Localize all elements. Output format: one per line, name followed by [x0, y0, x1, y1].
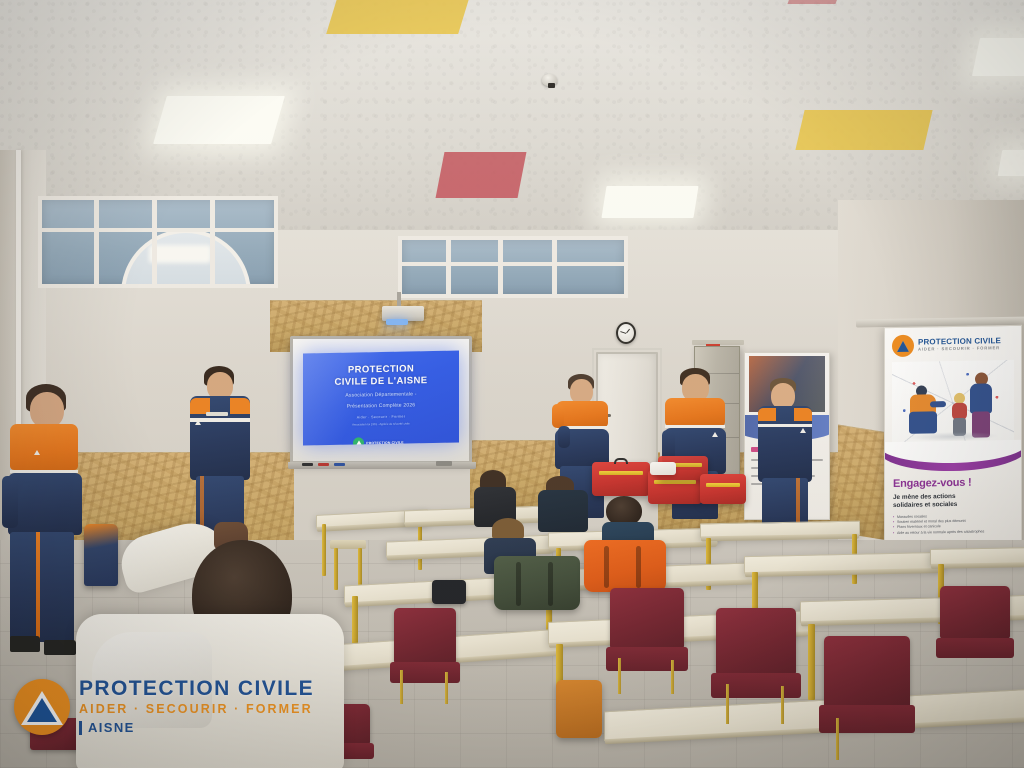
- illus-volunteer-legs: [909, 411, 937, 433]
- instructor-1-leg-stripe: [36, 532, 40, 642]
- emergency-med-bag-4: [700, 474, 746, 504]
- chair-backrest[interactable]: [824, 636, 910, 708]
- protection-civile-badge-icon: [712, 432, 718, 437]
- watermark-title: PROTECTION CIVILE: [79, 678, 314, 701]
- projected-slide: PROTECTION CIVILE DE L'AISNE Association…: [303, 351, 459, 446]
- watermark-tagline: AIDER · SECOURIR · FORMER: [79, 703, 314, 717]
- student-2-top: [538, 490, 588, 532]
- chair-leg: [445, 672, 448, 704]
- clerestory-window-left: [38, 196, 278, 288]
- ceiling-accent-tile-red: [436, 152, 527, 198]
- window-transom: [402, 262, 624, 266]
- slide-footnote: Association loi 1901 - Agréée de sécurit…: [309, 421, 453, 428]
- window-transom: [42, 228, 274, 232]
- instructor-2-name-patch: [206, 412, 228, 416]
- instructor-1-boot: [10, 636, 40, 652]
- projector-lens-icon: [386, 319, 408, 325]
- banner-logo-tagline: AIDER · SECOURIR · FORMER: [918, 346, 1001, 352]
- backpack-strap: [636, 546, 641, 588]
- illus-parent-torso: [970, 383, 992, 413]
- ceiling-light-panel-3: [972, 38, 1024, 76]
- marker-black-icon: [302, 463, 313, 466]
- ceiling-accent-tile-yellow: [326, 0, 470, 34]
- desk-leg: [808, 624, 815, 700]
- rollup-banner-engagez-vous: PROTECTION CIVILE AIDER · SECOURIR · FOR…: [884, 325, 1022, 569]
- clerestory-window-back: [398, 236, 628, 298]
- slide-title-line2: CIVILE DE L'AISNE: [309, 374, 453, 389]
- watermark-logo: PROTECTION CIVILE AIDER · SECOURIR · FOR…: [14, 678, 314, 735]
- banner-subhead-line2: solidaires et sociales: [893, 500, 1014, 510]
- chair-4[interactable]: [824, 636, 910, 760]
- window-mullion: [152, 200, 157, 284]
- banner-bullet-list: Maraudes sociales Soutien matériel et mo…: [893, 513, 1014, 537]
- desk-row-b-3: [700, 521, 860, 539]
- classroom-photo-scene: PROTECTION CIVILE DE L'AISNE Association…: [0, 0, 1024, 768]
- banner-illustration: [892, 360, 1014, 446]
- slide-motto: Aider · Secourir · Former: [309, 414, 453, 421]
- chair-3[interactable]: [716, 608, 796, 724]
- chair-seat[interactable]: [936, 638, 1014, 658]
- backpack-orange: [584, 540, 666, 592]
- protection-civile-logo-icon: [14, 679, 70, 735]
- instructor-5-shoulder-orange-left: [758, 408, 776, 421]
- chair-6-partial[interactable]: [940, 586, 1010, 678]
- banner-text-block: Engagez-vous ! Je mène des actions solid…: [893, 476, 1014, 536]
- backpack-strap: [516, 562, 521, 605]
- window-mullion: [552, 240, 557, 294]
- instructor-5: [756, 378, 818, 538]
- banner-logo-header: PROTECTION CIVILE AIDER · SECOURIR · FOR…: [885, 326, 1021, 357]
- reflective-strip: [654, 480, 695, 484]
- chair-leg: [726, 684, 729, 724]
- window-light-glare: [149, 245, 211, 263]
- chair-seat[interactable]: [711, 673, 801, 699]
- smoke-detector-icon: [542, 74, 557, 86]
- reflective-strip: [706, 483, 741, 487]
- window-mullion: [94, 200, 99, 284]
- chair-backrest[interactable]: [940, 586, 1010, 639]
- marker-blue-icon: [334, 463, 345, 466]
- protection-civile-logo-icon: [892, 335, 914, 357]
- student-3-hair: [492, 518, 524, 540]
- instructor-3-arm-left: [552, 404, 564, 428]
- ceiling-projector: [382, 306, 424, 321]
- illus-volunteer-arm: [930, 401, 946, 407]
- protection-civile-badge-icon: [800, 428, 806, 433]
- chair-leg: [671, 660, 674, 694]
- instructor-5-reflective-stripe: [758, 424, 812, 427]
- protection-civile-badge-icon: [195, 420, 201, 425]
- protection-civile-triangle-icon: [353, 437, 364, 445]
- slide-subtitle-line1: Association Départementale -: [309, 390, 453, 400]
- instructor-5-jacket: [758, 406, 812, 482]
- window-mullion: [210, 200, 215, 284]
- ceiling-accent-tile-yellow-right: [795, 110, 932, 150]
- instructor-1-polo-orange: [10, 424, 78, 470]
- protection-civile-badge-icon: [34, 450, 40, 455]
- slide-subtitle-line2: Présentation Complète 2026: [309, 402, 453, 412]
- bag-handle-icon: [614, 458, 628, 464]
- backpack-green: [494, 556, 580, 610]
- chair-seat[interactable]: [819, 705, 915, 732]
- eraser-icon: [436, 461, 452, 466]
- window-mullion: [446, 240, 451, 294]
- chair-leg: [836, 718, 839, 760]
- ceiling-light-panel-1: [153, 96, 285, 144]
- banner-headline: Engagez-vous !: [893, 476, 1014, 490]
- backpack-strap: [604, 546, 609, 588]
- marker-red-icon: [318, 463, 329, 466]
- instructor-1-arm: [2, 476, 18, 528]
- backpack-strap: [548, 562, 553, 605]
- chair-1[interactable]: [394, 608, 456, 704]
- instructor-1-head: [30, 392, 64, 428]
- desk-row-c-3: [744, 552, 944, 574]
- chair-backrest[interactable]: [716, 608, 796, 675]
- instructor-5-shoulder-orange-right: [794, 408, 812, 421]
- wall-clock: [616, 322, 636, 344]
- instructor-4-polo-orange: [665, 398, 725, 426]
- emergency-med-bag-1: [592, 462, 650, 496]
- desk-row-c-4: [930, 547, 1024, 566]
- ceiling-light-panel-4: [998, 150, 1024, 176]
- white-folded-cloth: [650, 462, 676, 475]
- instructor-3-forearm: [558, 426, 570, 448]
- chair-2[interactable]: [610, 588, 684, 694]
- bag-tan-under-desk: [556, 680, 602, 738]
- logo-triangle-blue: [27, 698, 57, 722]
- ceiling-light-panel-2: [601, 186, 698, 218]
- window-mullion: [498, 240, 503, 294]
- student-2: [538, 476, 590, 534]
- chair-backrest[interactable]: [394, 608, 456, 664]
- ceiling-accent-tile-red-top: [787, 0, 840, 4]
- watermark-region: AISNE: [79, 721, 314, 735]
- banner-bullet: Aide au retour à la vie normale après de…: [893, 529, 1014, 537]
- chair-leg: [400, 670, 403, 704]
- chair-leg: [781, 686, 784, 724]
- chair-leg: [618, 658, 621, 694]
- chair-backrest[interactable]: [610, 588, 684, 649]
- instructor-2-jacket: [190, 396, 250, 480]
- bag-black-under-desk: [432, 580, 466, 604]
- instructor-2-shoulder-orange-right: [230, 398, 250, 414]
- reflective-strip: [599, 471, 643, 475]
